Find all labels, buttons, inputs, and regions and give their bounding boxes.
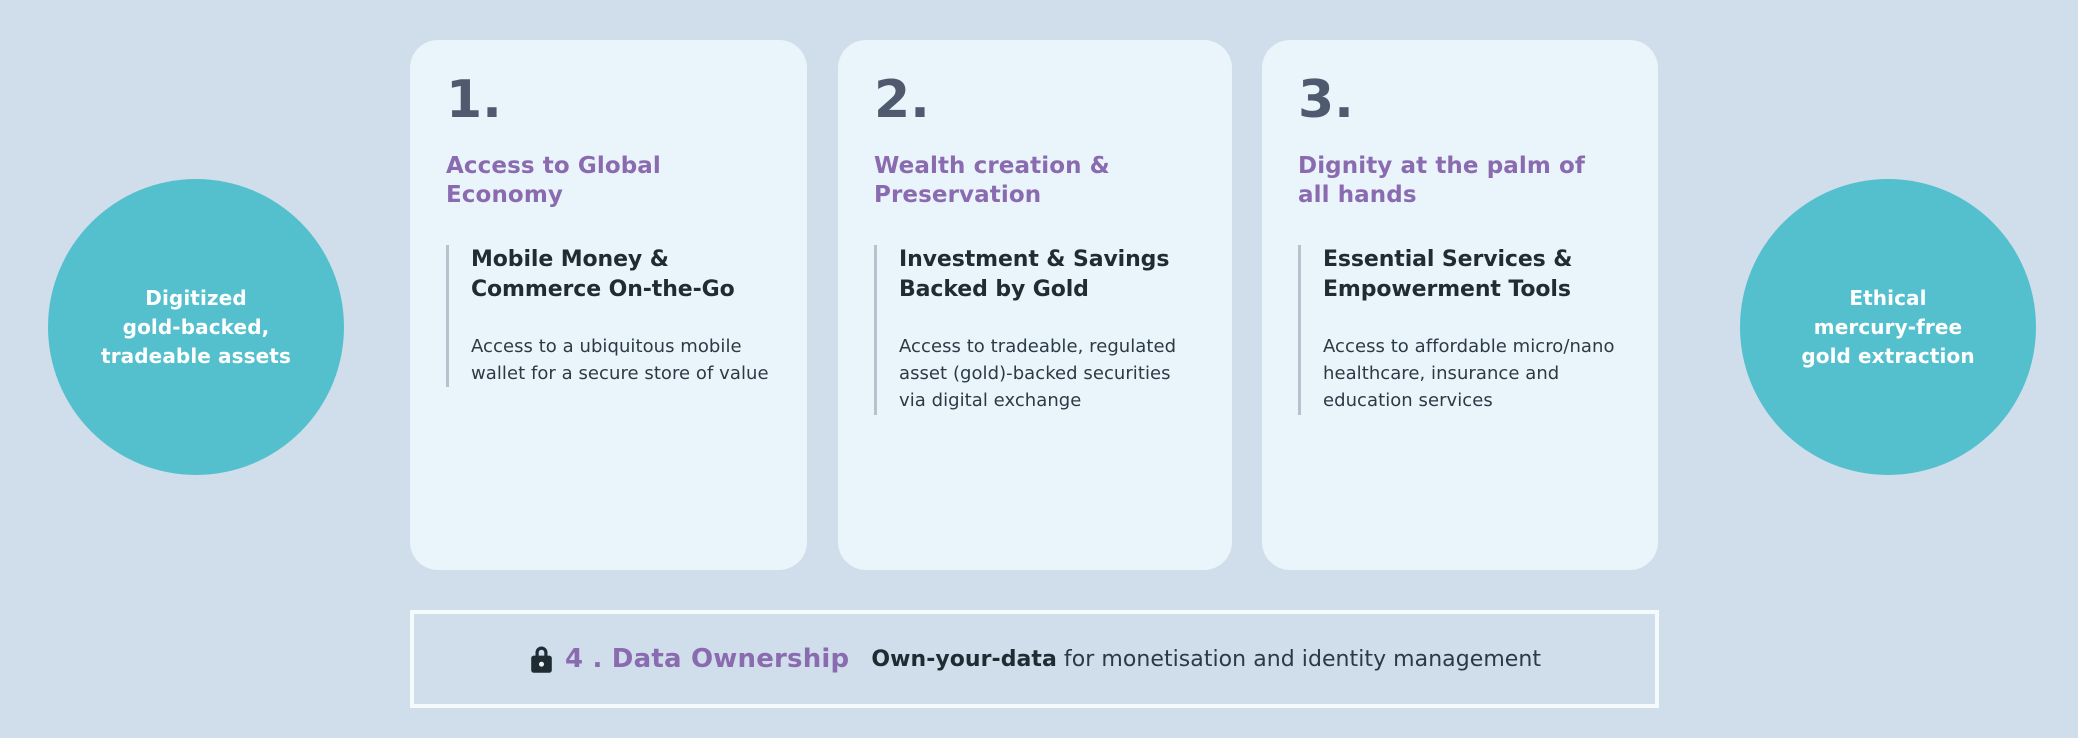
card-1-title: Access to Global Economy: [446, 152, 771, 211]
data-ownership-bar[interactable]: 4 . Data Ownership Own-your-data for mon…: [410, 610, 1659, 708]
card-2-number: 2.: [874, 74, 1196, 126]
right-circle-line-2: mercury-free: [1814, 315, 1962, 339]
footer-emphasis: Own-your-data: [871, 647, 1057, 672]
lock-icon: [528, 644, 555, 674]
footer-label: 4 . Data Ownership: [565, 644, 849, 674]
right-teal-circle: Ethical mercury-free gold extraction: [1740, 179, 2036, 475]
card-3-body: Essential Services & Empowerment Tools A…: [1298, 245, 1622, 415]
left-circle-text: Digitized gold-backed, tradeable assets: [75, 284, 317, 371]
left-circle-line-3: tradeable assets: [101, 344, 291, 368]
left-circle-line-2: gold-backed,: [123, 315, 270, 339]
value-card-3[interactable]: 3. Dignity at the palm of all hands Esse…: [1262, 40, 1658, 570]
card-1-body: Mobile Money & Commerce On-the-Go Access…: [446, 245, 771, 388]
value-card-1[interactable]: 1. Access to Global Economy Mobile Money…: [410, 40, 807, 570]
footer-rest: for monetisation and identity management: [1057, 647, 1541, 672]
card-3-number: 3.: [1298, 74, 1622, 126]
footer-description: Own-your-data for monetisation and ident…: [871, 647, 1541, 672]
left-teal-circle: Digitized gold-backed, tradeable assets: [48, 179, 344, 475]
card-1-number: 1.: [446, 74, 771, 126]
right-circle-line-3: gold extraction: [1801, 344, 1974, 368]
card-2-body: Investment & Savings Backed by Gold Acce…: [874, 245, 1196, 415]
right-circle-line-1: Ethical: [1849, 286, 1926, 310]
card-2-title: Wealth creation & Preservation: [874, 152, 1196, 211]
card-1-subtitle: Mobile Money & Commerce On-the-Go: [471, 245, 771, 305]
right-circle-text: Ethical mercury-free gold extraction: [1775, 284, 2000, 371]
infographic-canvas: Digitized gold-backed, tradeable assets …: [0, 0, 2078, 738]
left-circle-line-1: Digitized: [145, 286, 246, 310]
footer-content: 4 . Data Ownership Own-your-data for mon…: [528, 644, 1541, 674]
card-2-subtitle: Investment & Savings Backed by Gold: [899, 245, 1196, 305]
card-3-title: Dignity at the palm of all hands: [1298, 152, 1622, 211]
card-2-description: Access to tradeable, regulated asset (go…: [899, 333, 1196, 415]
card-1-description: Access to a ubiquitous mobile wallet for…: [471, 333, 771, 388]
card-3-description: Access to affordable micro/nano healthca…: [1323, 333, 1622, 415]
card-3-subtitle: Essential Services & Empowerment Tools: [1323, 245, 1622, 305]
value-card-2[interactable]: 2. Wealth creation & Preservation Invest…: [838, 40, 1232, 570]
